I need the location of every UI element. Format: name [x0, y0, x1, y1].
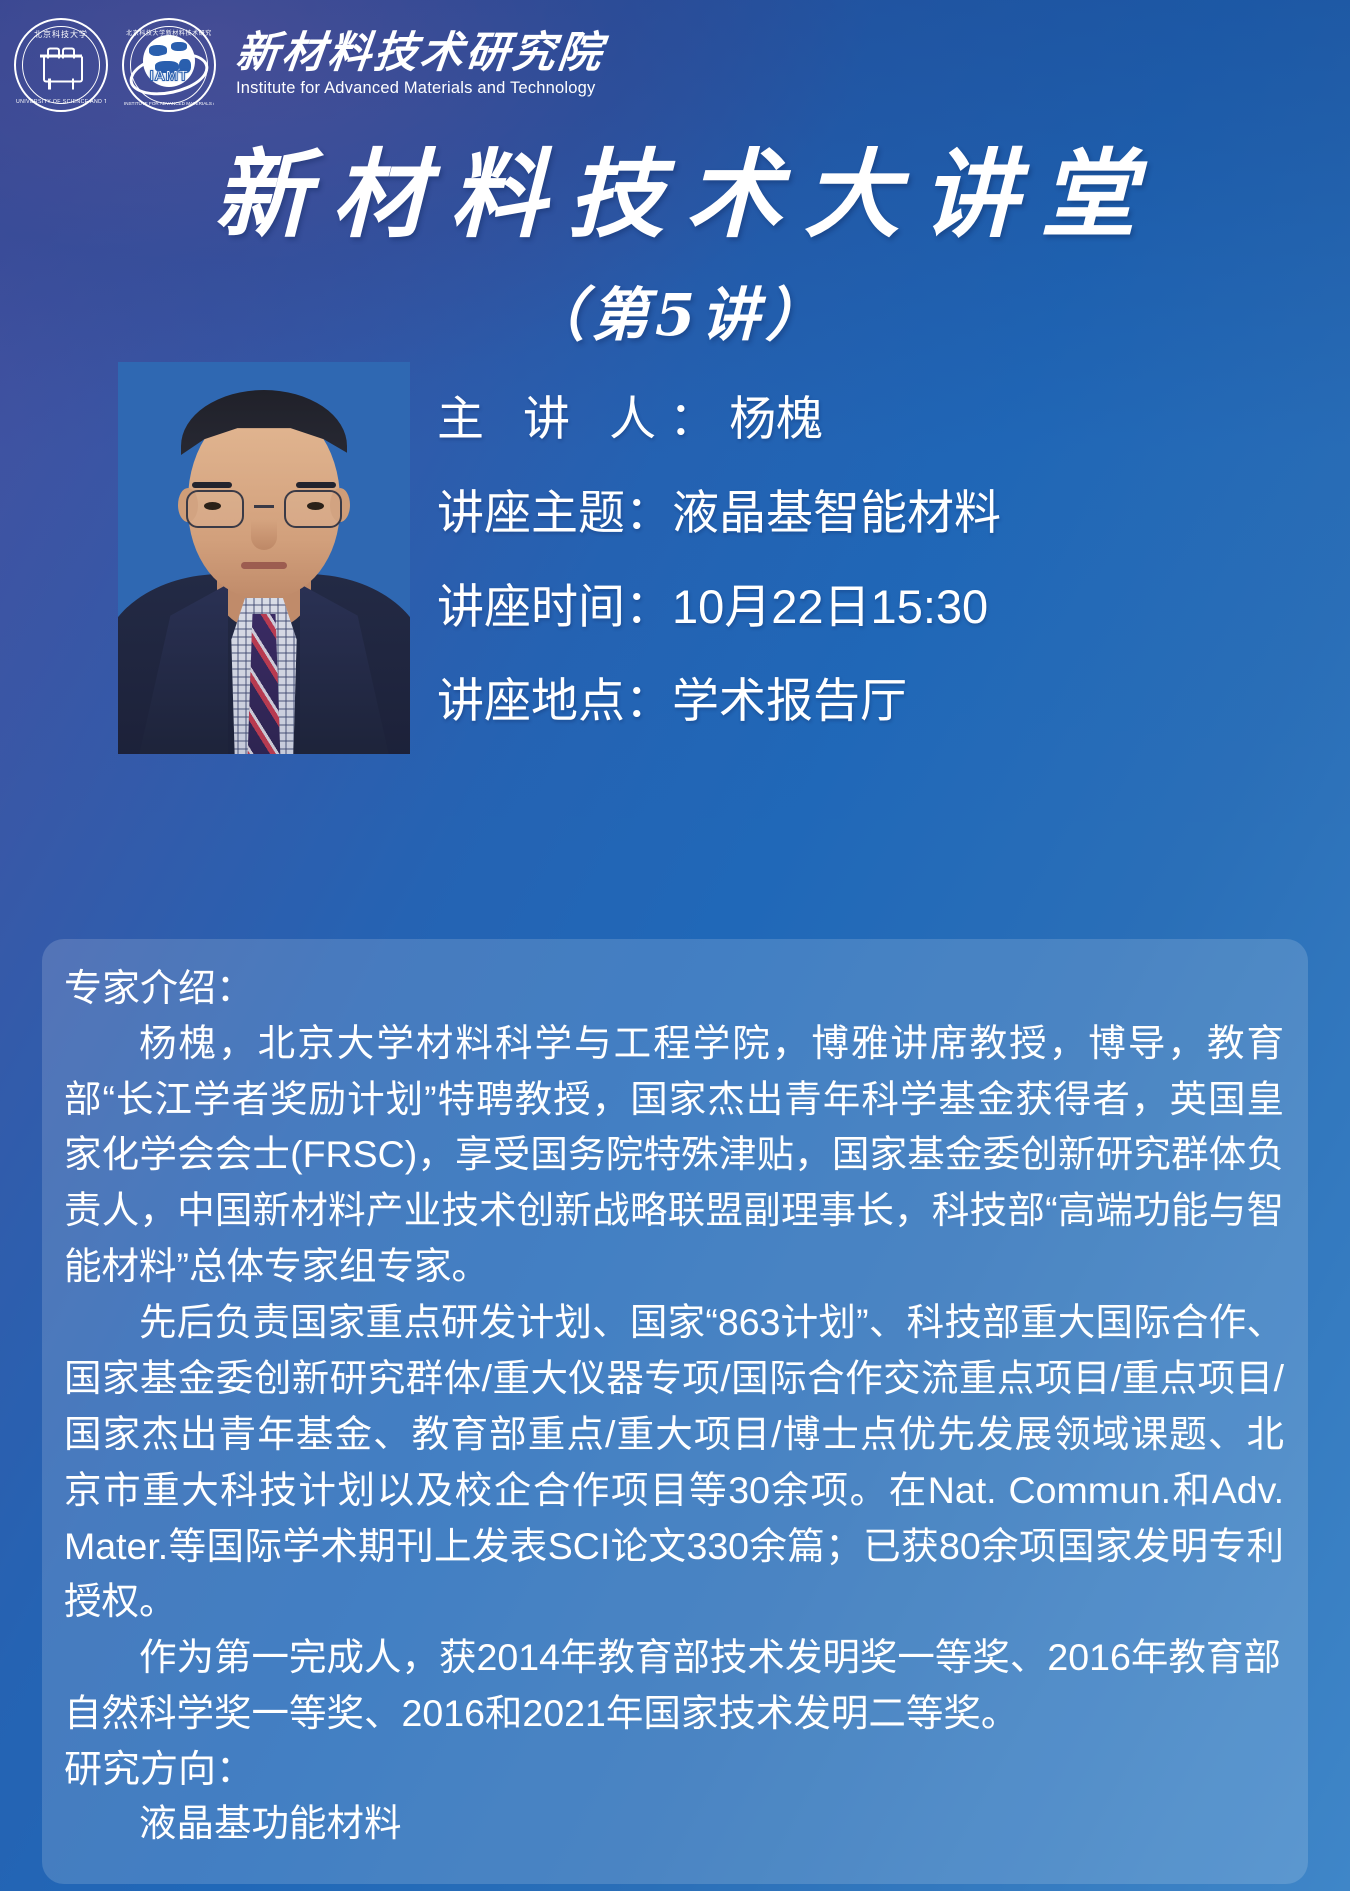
- brand-name-en: Institute for Advanced Materials and Tec…: [236, 79, 604, 98]
- ustb-seal-top-chars: 北京科技大学: [16, 29, 106, 40]
- bio-heading: 专家介绍：: [64, 965, 1284, 1014]
- poster-subtitle: （第5讲）: [0, 268, 1350, 352]
- ding-vessel-icon: [40, 48, 82, 86]
- iamt-seal-icon: 北京科技大学新材料技术研究院 IAMT INSTITUTE FOR ADVANC…: [122, 18, 216, 112]
- ustb-seal-arc-text: UNIVERSITY OF SCIENCE AND TECHNOLOGY BEI…: [16, 99, 106, 105]
- info-value-time: 10月22日15:30: [672, 580, 988, 633]
- bio-paragraph-1: 杨槐，北京大学材料科学与工程学院，博雅讲席教授，博导，教育部“长江学者奖励计划”…: [64, 1016, 1284, 1295]
- speaker-portrait: [118, 362, 410, 754]
- brand-block: 新材料技术研究院 Institute for Advanced Material…: [236, 32, 604, 98]
- info-row-speaker: 主 讲 人：杨槐: [437, 395, 1317, 442]
- bio-paragraph-2: 先后负责国家重点研发计划、国家“863计划”、科技部重大国际合作、国家基金委创新…: [64, 1295, 1284, 1630]
- ustb-seal-icon: 北京科技大学 UNIVERSITY OF SCIENCE AND TECHNOL…: [14, 18, 108, 112]
- info-row-topic: 讲座主题：液晶基智能材料: [437, 489, 1317, 536]
- info-label-location: 讲座地点：: [437, 674, 672, 727]
- lecture-info-list: 主 讲 人：杨槐 讲座主题：液晶基智能材料 讲座时间：10月22日15:30 讲…: [437, 395, 1317, 771]
- info-label-topic: 讲座主题：: [437, 486, 672, 539]
- iamt-seal-arc-text: INSTITUTE FOR ADVANCED MATERIALS AND TEC…: [124, 101, 214, 106]
- header-branding: 北京科技大学 UNIVERSITY OF SCIENCE AND TECHNOL…: [14, 18, 604, 112]
- expert-bio-panel: 专家介绍： 杨槐，北京大学材料科学与工程学院，博雅讲席教授，博导，教育部“长江学…: [42, 939, 1308, 1884]
- brand-name-cn: 新材料技术研究院: [234, 32, 607, 76]
- bio-paragraph-3: 作为第一完成人，获2014年教育部技术发明奖一等奖、2016年教育部自然科学奖一…: [64, 1630, 1284, 1742]
- info-value-speaker: 杨槐: [729, 392, 823, 445]
- iamt-monogram: IAMT: [150, 67, 189, 84]
- research-value: 液晶基功能材料: [64, 1796, 1284, 1852]
- info-label-time: 讲座时间：: [437, 580, 672, 633]
- info-value-location: 学术报告厅: [672, 674, 907, 727]
- info-value-topic: 液晶基智能材料: [672, 486, 1001, 539]
- info-label-speaker: 主 讲 人：: [437, 392, 729, 445]
- poster-title: 新材料技术大讲堂: [0, 138, 1350, 251]
- research-heading: 研究方向：: [64, 1744, 1284, 1796]
- info-row-location: 讲座地点：学术报告厅: [437, 677, 1317, 724]
- poster-root: 北京科技大学 UNIVERSITY OF SCIENCE AND TECHNOL…: [0, 0, 1350, 1891]
- info-row-time: 讲座时间：10月22日15:30: [437, 583, 1317, 630]
